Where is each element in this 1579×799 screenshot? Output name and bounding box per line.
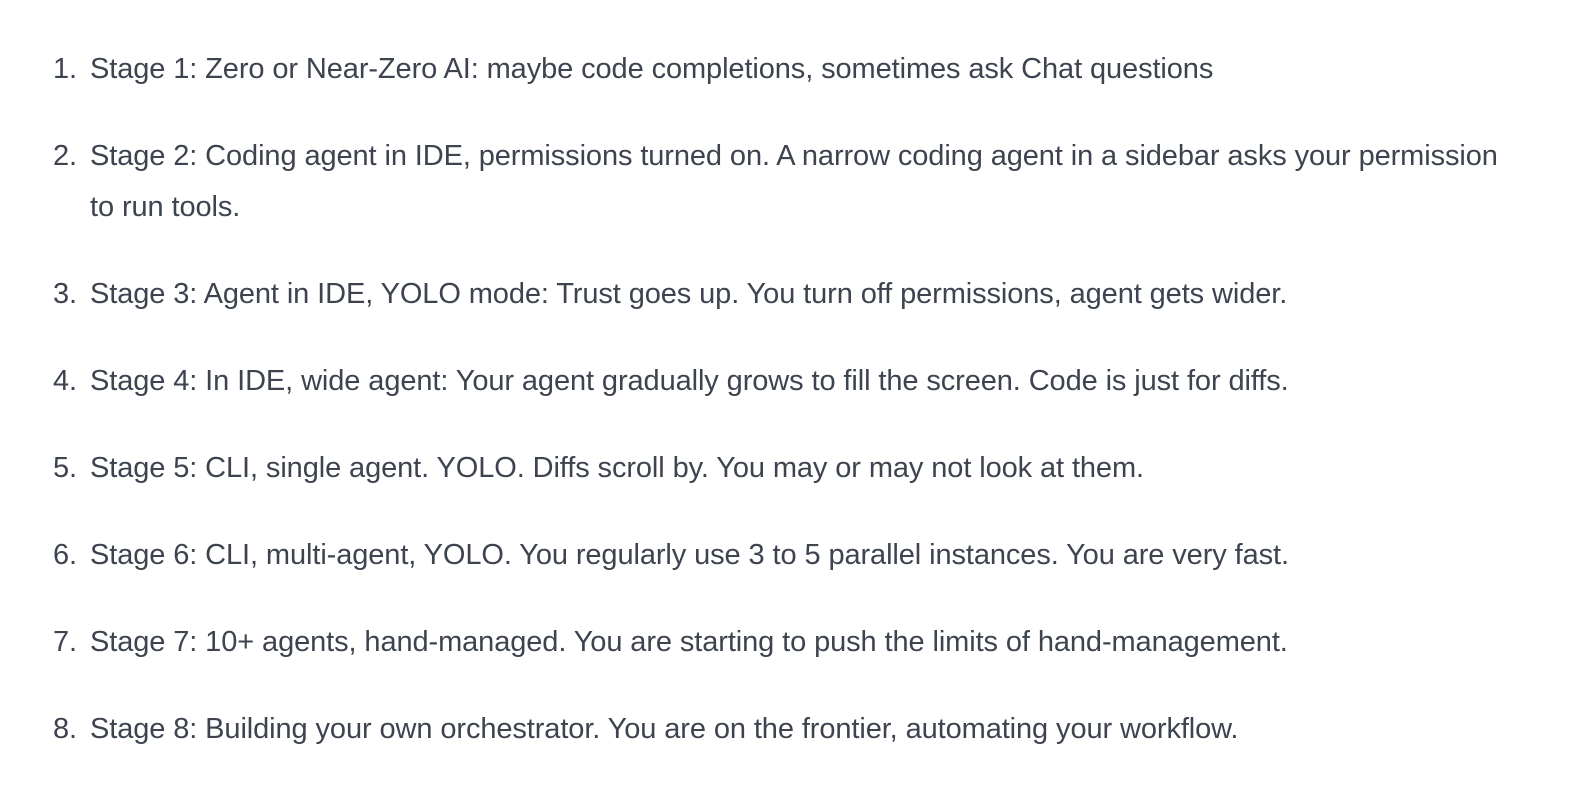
list-item: 5. Stage 5: CLI, single agent. YOLO. Dif… [53, 443, 1513, 494]
list-item-text: Stage 7: 10+ agents, hand-managed. You a… [90, 617, 1513, 668]
list-item-text: Stage 2: Coding agent in IDE, permission… [90, 131, 1513, 233]
list-item-text: Stage 8: Building your own orchestrator.… [90, 704, 1513, 755]
list-item-text: Stage 5: CLI, single agent. YOLO. Diffs … [90, 443, 1513, 494]
list-item: 2. Stage 2: Coding agent in IDE, permiss… [53, 131, 1513, 233]
list-item-text: Stage 3: Agent in IDE, YOLO mode: Trust … [90, 269, 1513, 320]
list-item: 7. Stage 7: 10+ agents, hand-managed. Yo… [53, 617, 1513, 668]
list-item-marker: 4. [53, 356, 87, 407]
list-item-marker: 3. [53, 269, 87, 320]
list-item-marker: 7. [53, 617, 87, 668]
list-item: 8. Stage 8: Building your own orchestrat… [53, 704, 1513, 755]
list-item-marker: 2. [53, 131, 87, 182]
list-item-text: Stage 1: Zero or Near-Zero AI: maybe cod… [90, 44, 1513, 95]
list-item-marker: 1. [53, 44, 87, 95]
list-item: 4. Stage 4: In IDE, wide agent: Your age… [53, 356, 1513, 407]
list-item-marker: 5. [53, 443, 87, 494]
stage-progression-list: 1. Stage 1: Zero or Near-Zero AI: maybe … [53, 44, 1513, 755]
list-item: 3. Stage 3: Agent in IDE, YOLO mode: Tru… [53, 269, 1513, 320]
list-item: 1. Stage 1: Zero or Near-Zero AI: maybe … [53, 44, 1513, 95]
list-item-text: Stage 4: In IDE, wide agent: Your agent … [90, 356, 1513, 407]
list-item-marker: 6. [53, 530, 87, 581]
document-page: 1. Stage 1: Zero or Near-Zero AI: maybe … [0, 0, 1579, 799]
list-item-marker: 8. [53, 704, 87, 755]
list-item: 6. Stage 6: CLI, multi-agent, YOLO. You … [53, 530, 1513, 581]
list-item-text: Stage 6: CLI, multi-agent, YOLO. You reg… [90, 530, 1513, 581]
